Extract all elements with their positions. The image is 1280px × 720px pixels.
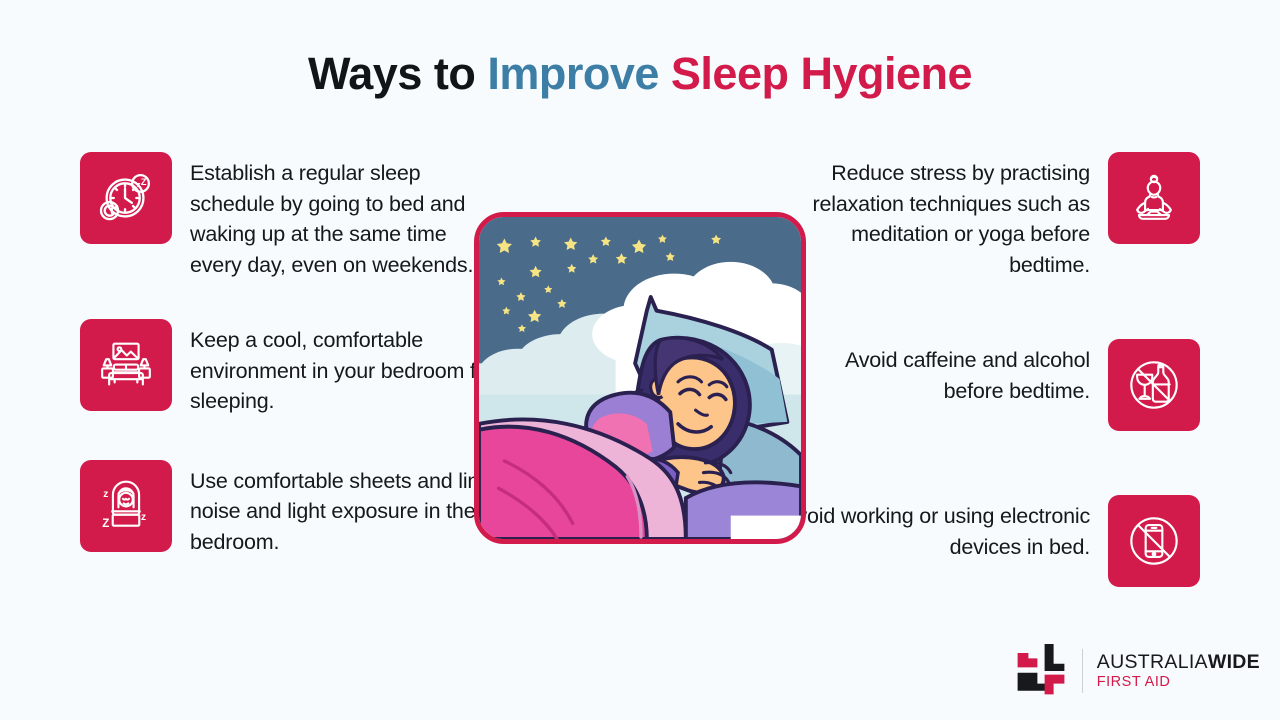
tip-text: Establish a regular sleep schedule by go… [190, 152, 500, 280]
no-phone-icon [1108, 495, 1200, 587]
tip-text: Avoid working or using electronic device… [780, 495, 1090, 562]
logo-divider [1082, 649, 1083, 693]
svg-text:Z: Z [102, 516, 109, 529]
logo-line-first-aid: FIRST AID [1097, 675, 1260, 690]
logo-word-wide: WIDE [1208, 651, 1260, 673]
title-part-improve: Improve [487, 48, 671, 99]
bedroom-bed-icon [80, 319, 172, 411]
right-tips-column: Reduce stress by practising relaxation t… [780, 130, 1200, 615]
svg-text:z: z [103, 489, 108, 500]
clock-sleep-icon: z Z [80, 152, 172, 244]
tip-text: Use comfortable sheets and limit noise a… [190, 460, 500, 558]
tip-text: Keep a cool, comfortable environment in … [190, 319, 500, 417]
page-title: Ways to Improve Sleep Hygiene [0, 48, 1280, 100]
tip-item-sleep-schedule: z Z Establish a regular sleep schedule b… [80, 152, 500, 280]
tip-item-sheets-noise-light: z z Z Use comfortable sheets and limit n… [80, 460, 500, 558]
logo-wordmark: AUSTRALIAWIDE FIRST AID [1097, 652, 1260, 691]
logo-line-australiawide: AUSTRALIAWIDE [1097, 652, 1260, 672]
first-aid-cross-logo-mark [1014, 644, 1068, 698]
sleeping-woman-illustration [474, 212, 806, 544]
tip-item-relaxation-techniques: Reduce stress by practising relaxation t… [780, 152, 1200, 280]
person-sleeping-icon: z z Z [80, 460, 172, 552]
title-part-ways-to: Ways to [308, 48, 487, 99]
tip-item-avoid-caffeine-alcohol: Avoid caffeine and alcohol before bedtim… [780, 339, 1200, 431]
left-tips-column: z Z Establish a regular sleep schedule b… [80, 130, 500, 585]
title-part-sleep-hygiene: Sleep Hygiene [671, 48, 972, 99]
tip-item-avoid-devices-in-bed: Avoid working or using electronic device… [780, 495, 1200, 587]
meditation-yoga-icon [1108, 152, 1200, 244]
logo-word-australia: AUSTRALIA [1097, 651, 1208, 673]
svg-text:z: z [141, 512, 146, 523]
tip-text: Reduce stress by practising relaxation t… [780, 152, 1090, 280]
sleeping-woman-artwork [479, 217, 801, 539]
tip-item-bedroom-environment: Keep a cool, comfortable environment in … [80, 319, 500, 417]
no-alcohol-icon [1108, 339, 1200, 431]
australia-wide-first-aid-logo: AUSTRALIAWIDE FIRST AID [1014, 644, 1260, 698]
tip-text: Avoid caffeine and alcohol before bedtim… [780, 339, 1090, 406]
svg-text:Z: Z [141, 177, 147, 187]
